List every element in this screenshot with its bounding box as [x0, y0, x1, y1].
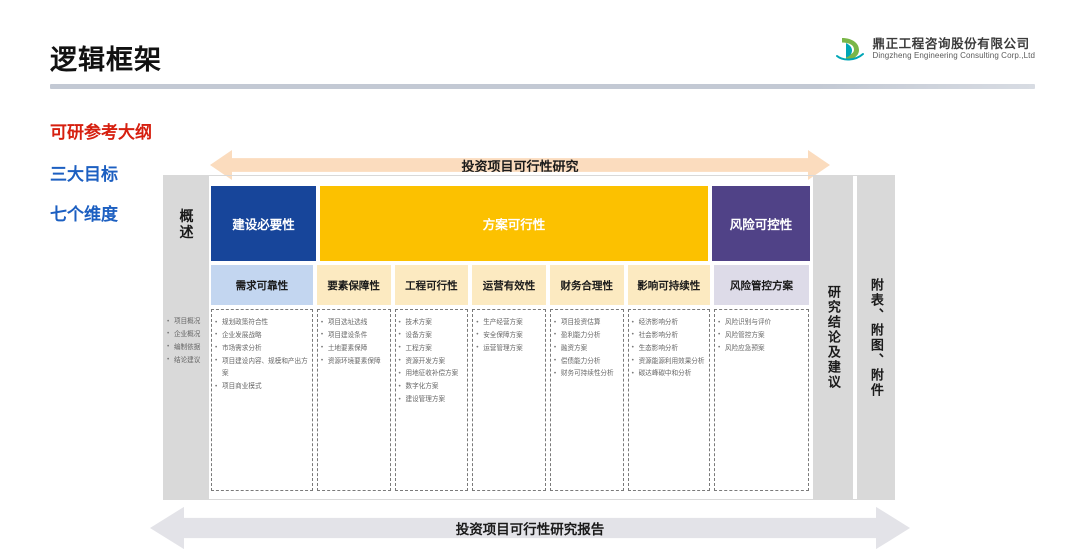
company-logo: 鼎正工程咨询股份有限公司 Dingzheng Engineering Consu…	[835, 34, 1035, 64]
dimension-bullet: 市场需求分析	[215, 343, 308, 356]
dimension-body-2: 项目选址选线项目建设条件土地要素保障资源环境要素保障	[317, 309, 391, 491]
dimension-bullet: 风险管控方案	[718, 330, 804, 343]
leaf-swoosh-logo-icon	[835, 34, 865, 64]
dimension-bullets: 项目选址选线项目建设条件土地要素保障资源环境要素保障	[321, 317, 386, 368]
dimension-bullets: 经济影响分析社会影响分析生态影响分析资源能源利用效果分析碳达峰碳中和分析	[632, 317, 705, 381]
dimension-column-6: 影响可持续性经济影响分析社会影响分析生态影响分析资源能源利用效果分析碳达峰碳中和…	[628, 176, 710, 499]
dimension-bullet: 融资方案	[554, 343, 619, 356]
column-research-conclusions: 研究结论及建议	[813, 176, 853, 499]
column-appendices-label: 附表、附图、附件	[869, 278, 883, 398]
dimension-bullet: 生态影响分析	[632, 343, 705, 356]
dimension-body-1: 规划政策符合性企业发展战略市场需求分析项目建设内容、规模和产出方案项目商业模式	[211, 309, 313, 491]
dimension-bullet: 安全保障方案	[476, 330, 541, 343]
dimension-column-7: 风险管控方案风险识别与评价风险管控方案风险应急预案	[714, 176, 809, 499]
bottom-arrow-label: 投资项目可行性研究报告	[456, 518, 605, 538]
dimension-bullets: 风险识别与评价风险管控方案风险应急预案	[718, 317, 804, 356]
dimension-bullet: 项目选址选线	[321, 317, 386, 330]
dimension-bullet: 运营管理方案	[476, 343, 541, 356]
dimension-bullet: 生产经营方案	[476, 317, 541, 330]
overview-bullet: 结论建议	[167, 355, 209, 368]
dimension-bullet: 技术方案	[399, 317, 464, 330]
overview-bullet: 编制依据	[167, 342, 209, 355]
dimension-header-6: 影响可持续性	[628, 265, 710, 305]
band-spacer	[714, 176, 809, 261]
rail-label-goals: 三大目标	[50, 160, 118, 185]
dimension-body-5: 项目投资估算盈利能力分析融资方案偿债能力分析财务可持续性分析	[550, 309, 624, 491]
dimension-header-2: 要素保障性	[317, 265, 391, 305]
dimension-bullet: 项目投资估算	[554, 317, 619, 330]
dimension-bullet: 经济影响分析	[632, 317, 705, 330]
dimension-bullet: 财务可持续性分析	[554, 368, 619, 381]
dimension-grid: 需求可靠性规划政策符合性企业发展战略市场需求分析项目建设内容、规模和产出方案项目…	[211, 176, 809, 499]
dimension-header-4: 运营有效性	[472, 265, 546, 305]
dimension-bullet: 资源环境要素保障	[321, 356, 386, 369]
dimension-bullet: 风险应急预案	[718, 343, 804, 356]
dimension-bullets: 技术方案设备方案工程方案资源开发方案用地征收补偿方案数字化方案建设管理方案	[399, 317, 464, 407]
dimension-column-3: 工程可行性技术方案设备方案工程方案资源开发方案用地征收补偿方案数字化方案建设管理…	[395, 176, 469, 499]
dimension-bullet: 社会影响分析	[632, 330, 705, 343]
overview-bullet: 项目概况	[167, 316, 209, 329]
dimension-body-4: 生产经营方案安全保障方案运营管理方案	[472, 309, 546, 491]
dimension-bullet: 风险识别与评价	[718, 317, 804, 330]
dimension-bullet: 工程方案	[399, 343, 464, 356]
logo-name-cn: 鼎正工程咨询股份有限公司	[872, 37, 1035, 51]
dimension-bullet: 规划政策符合性	[215, 317, 308, 330]
column-appendices: 附表、附图、附件	[857, 176, 895, 499]
dimension-bullet: 建设管理方案	[399, 394, 464, 407]
dimension-column-2: 要素保障性项目选址选线项目建设条件土地要素保障资源环境要素保障	[317, 176, 391, 499]
dimension-bullet: 数字化方案	[399, 381, 464, 394]
dimension-bullet: 企业发展战略	[215, 330, 308, 343]
dimension-bullet: 盈利能力分析	[554, 330, 619, 343]
band-spacer	[628, 176, 710, 261]
top-arrow-label: 投资项目可行性研究	[461, 156, 578, 175]
dimension-header-5: 财务合理性	[550, 265, 624, 305]
overview-column-bullets: 项目概况企业概况编制依据结论建议	[167, 316, 209, 367]
dimension-header-1: 需求可靠性	[211, 265, 313, 305]
dimension-bullets: 生产经营方案安全保障方案运营管理方案	[476, 317, 541, 356]
dimension-body-6: 经济影响分析社会影响分析生态影响分析资源能源利用效果分析碳达峰碳中和分析	[628, 309, 710, 491]
dimension-bullet: 项目商业模式	[215, 381, 308, 394]
dimension-body-7: 风险识别与评价风险管控方案风险应急预案	[714, 309, 809, 491]
band-spacer	[317, 176, 391, 261]
dimension-bullet: 偿债能力分析	[554, 356, 619, 369]
band-spacer	[550, 176, 624, 261]
logo-name-en: Dingzheng Engineering Consulting Corp.,L…	[872, 51, 1035, 61]
band-spacer	[472, 176, 546, 261]
band-spacer	[395, 176, 469, 261]
dimension-column-1: 需求可靠性规划政策符合性企业发展战略市场需求分析项目建设内容、规模和产出方案项目…	[211, 176, 313, 499]
page-title: 逻辑框架	[50, 38, 162, 77]
rail-label-dimensions: 七个维度	[50, 200, 118, 225]
title-divider	[50, 84, 1035, 89]
overview-column: 概述 项目概况企业概况编制依据结论建议	[164, 176, 209, 499]
dimension-bullet: 用地征收补偿方案	[399, 368, 464, 381]
band-spacer	[211, 176, 313, 261]
bottom-arrow-banner: 投资项目可行性研究报告	[150, 505, 910, 551]
dimension-bullets: 项目投资估算盈利能力分析融资方案偿债能力分析财务可持续性分析	[554, 317, 619, 381]
dimension-column-4: 运营有效性生产经营方案安全保障方案运营管理方案	[472, 176, 546, 499]
dimension-body-3: 技术方案设备方案工程方案资源开发方案用地征收补偿方案数字化方案建设管理方案	[395, 309, 469, 491]
logo-text-block: 鼎正工程咨询股份有限公司 Dingzheng Engineering Consu…	[872, 37, 1035, 61]
dimension-column-5: 财务合理性项目投资估算盈利能力分析融资方案偿债能力分析财务可持续性分析	[550, 176, 624, 499]
dimension-bullet: 碳达峰碳中和分析	[632, 368, 705, 381]
overview-column-title: 概述	[164, 208, 209, 240]
dimension-header-3: 工程可行性	[395, 265, 469, 305]
dimension-bullet: 项目建设条件	[321, 330, 386, 343]
rail-label-outline: 可研参考大纲	[50, 118, 152, 143]
dimension-bullet: 土地要素保障	[321, 343, 386, 356]
dimension-bullets: 规划政策符合性企业发展战略市场需求分析项目建设内容、规模和产出方案项目商业模式	[215, 317, 308, 394]
dimension-header-7: 风险管控方案	[714, 265, 809, 305]
dimension-bullet: 项目建设内容、规模和产出方案	[215, 356, 308, 382]
column-research-conclusions-label: 研究结论及建议	[826, 285, 840, 390]
dimension-bullet: 资源开发方案	[399, 356, 464, 369]
dimension-bullet: 设备方案	[399, 330, 464, 343]
overview-bullet: 企业概况	[167, 329, 209, 342]
dimension-bullet: 资源能源利用效果分析	[632, 356, 705, 369]
